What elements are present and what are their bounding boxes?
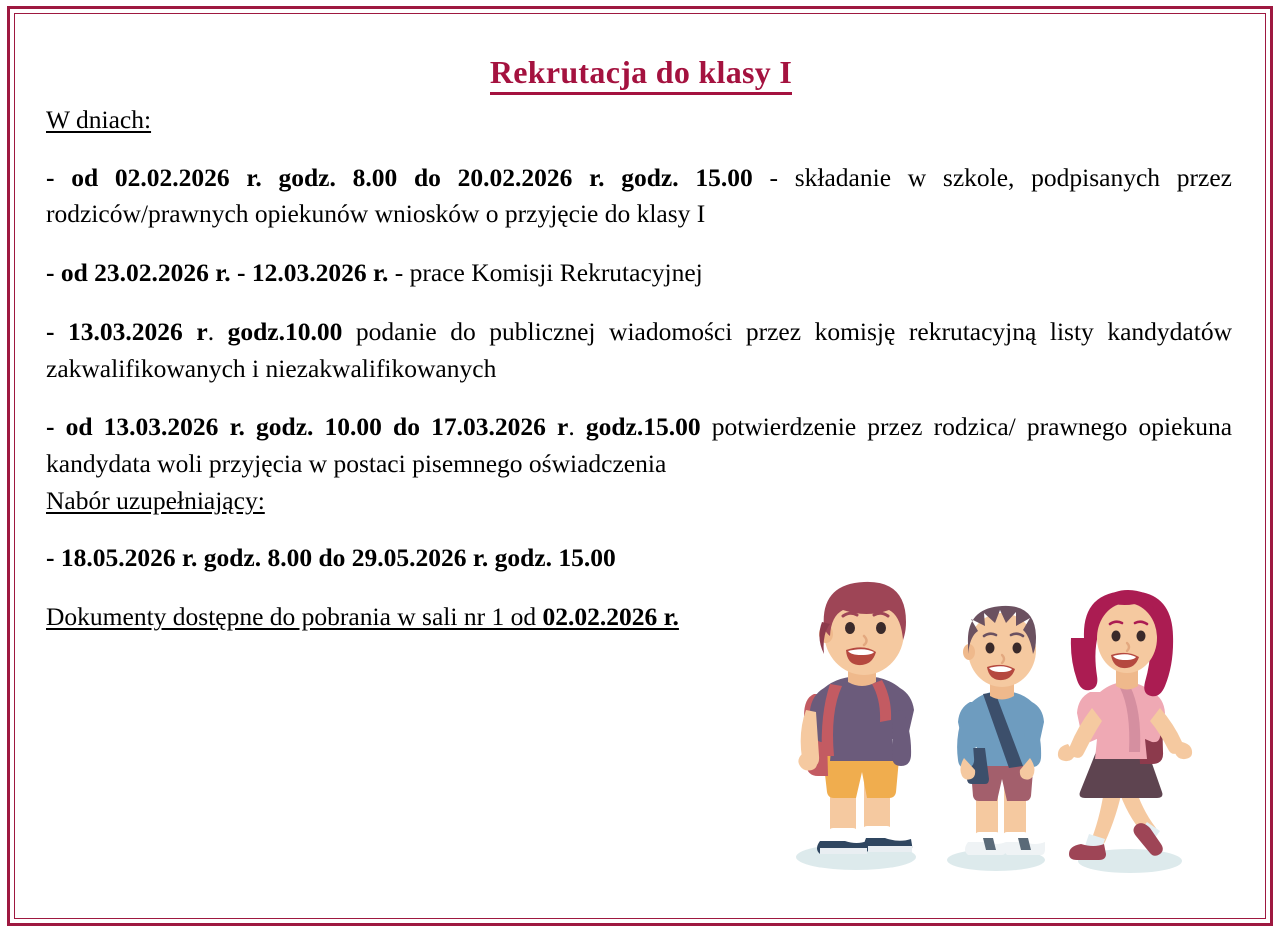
schedule-item-4: - od 13.03.2026 r. godz. 10.00 do 17.03.… — [46, 409, 1232, 482]
schedule-item-3-date: - 13.03.2026 r — [46, 317, 208, 346]
child-boy-backpack — [798, 582, 914, 854]
schedule-item-3: - 13.03.2026 r. godz.10.00 podanie do pu… — [46, 314, 1232, 387]
documents-note-text: Dokumenty dostępne do pobrania w sali nr… — [46, 602, 542, 631]
intro-heading: W dniach: — [46, 102, 1236, 138]
documents-note-underlined: Dokumenty dostępne do pobrania w sali nr… — [46, 602, 679, 631]
three-school-children-illustration — [778, 576, 1230, 882]
schedule-item-3-time: godz.10.00 — [214, 317, 342, 346]
supplementary-heading: Nabór uzupełniający: — [46, 483, 806, 519]
page-title: Rekrutacja do klasy I — [46, 52, 1236, 92]
schedule-item-4-time: godz.15.00 — [575, 412, 701, 441]
supplementary-dates: - 18.05.2026 r. godz. 8.00 do 29.05.2026… — [46, 540, 806, 577]
child-girl-backpack — [1058, 590, 1192, 860]
schedule-item-2-dates: - od 23.02.2026 r. - 12.03.2026 r. — [46, 258, 388, 287]
documents-note-date: 02.02.2026 r. — [542, 602, 678, 631]
documents-note: Dokumenty dostępne do pobrania w sali nr… — [46, 599, 806, 636]
child-boy-messenger — [957, 606, 1045, 855]
supplementary-heading-text: Nabór uzupełniający: — [46, 486, 265, 515]
supplementary-dates-text: - 18.05.2026 r. godz. 8.00 do 29.05.2026… — [46, 543, 616, 572]
intro-heading-text: W dniach: — [46, 105, 151, 134]
schedule-item-4-dates: - od 13.03.2026 r. godz. 10.00 do 17.03.… — [46, 412, 568, 441]
schedule-item-1: - od 02.02.2026 r. godz. 8.00 do 20.02.2… — [46, 160, 1232, 233]
schedule-item-2-description: - prace Komisji Rekrutacyjnej — [388, 258, 702, 287]
page-title-label: Rekrutacja do klasy I — [490, 54, 792, 95]
schedule-item-2: - od 23.02.2026 r. - 12.03.2026 r. - pra… — [46, 255, 1232, 292]
schedule-item-1-dates: - od 02.02.2026 r. godz. 8.00 do 20.02.2… — [46, 163, 753, 192]
document-page: Rekrutacja do klasy I W dniach: - od 02.… — [0, 0, 1280, 932]
